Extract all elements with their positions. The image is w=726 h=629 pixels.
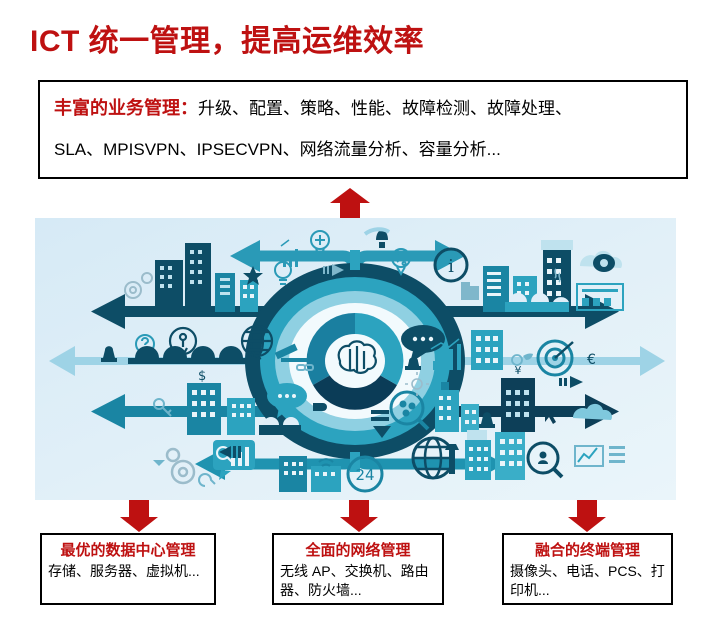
puzzle-icon bbox=[313, 403, 327, 411]
description-box: 丰富的业务管理：升级、配置、策略、性能、故障检测、故障处理、 SLA、MPISV… bbox=[38, 80, 688, 179]
svg-text:$: $ bbox=[198, 369, 206, 384]
bottom-box-terminal-body: 摄像头、电话、PCS、打印机... bbox=[510, 562, 665, 600]
description-label: 丰富的业务管理： bbox=[54, 98, 198, 118]
svg-text:i: i bbox=[448, 256, 454, 277]
description-line-1: 丰富的业务管理：升级、配置、策略、性能、故障检测、故障处理、 bbox=[54, 98, 572, 119]
ict-management-illustration: $ bbox=[35, 218, 676, 500]
illustration-svg: $ bbox=[35, 218, 676, 500]
bottom-box-datacenter-title: 最优的数据中心管理 bbox=[42, 541, 214, 560]
bottom-box-terminal-title: 融合的终端管理 bbox=[504, 541, 671, 560]
description-line-2-text: SLA、MPISVPN、IPSECVPN、网络流量分析、容量分析... bbox=[54, 140, 501, 160]
down-arrow-terminal-icon bbox=[568, 500, 606, 532]
bottom-box-network-body: 无线 AP、交换机、路由器、防火墙... bbox=[280, 562, 436, 600]
description-line-1-text: 升级、配置、策略、性能、故障检测、故障处理、 bbox=[198, 99, 572, 118]
down-arrow-network-icon bbox=[340, 500, 378, 532]
building-icon-mid-right bbox=[471, 330, 503, 370]
page-title: ICT 统一管理，提高运维效率 bbox=[30, 16, 424, 60]
building-icon-bottom-right bbox=[465, 430, 525, 480]
up-arrow-icon bbox=[330, 188, 370, 220]
svg-text:€: € bbox=[587, 352, 596, 368]
bottom-box-terminal: 融合的终端管理 摄像头、电话、PCS、打印机... bbox=[502, 533, 673, 605]
bottom-box-network-title: 全面的网络管理 bbox=[274, 541, 442, 560]
svg-text:24: 24 bbox=[355, 466, 374, 484]
down-arrow-datacenter-icon bbox=[120, 500, 158, 532]
bottom-box-datacenter: 最优的数据中心管理 存储、服务器、虚拟机... bbox=[40, 533, 216, 605]
bottom-box-network: 全面的网络管理 无线 AP、交换机、路由器、防火墙... bbox=[272, 533, 444, 605]
svg-text:¥: ¥ bbox=[515, 364, 522, 377]
bottom-box-datacenter-body: 存储、服务器、虚拟机... bbox=[48, 562, 208, 581]
